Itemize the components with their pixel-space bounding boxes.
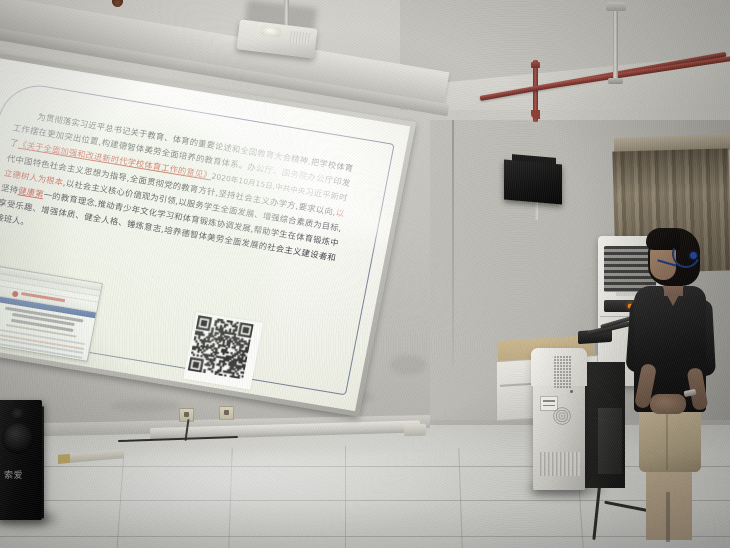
console-dial-icon[interactable] [552, 406, 572, 426]
floor-reflection [60, 455, 480, 545]
radiator-end-cap [404, 424, 426, 437]
floor-speaker-brand: 索爱 [4, 468, 34, 480]
console-speaker-mesh [554, 356, 572, 388]
wall-corner-edge [452, 120, 454, 365]
ceiling-drop-rod-foot [608, 78, 623, 84]
speaker-woofer-icon [2, 422, 34, 454]
floor-standing-speaker [0, 400, 42, 520]
ceiling-drop-rod [613, 4, 618, 80]
wall-mounted-speaker [504, 159, 562, 204]
headset-earpiece-icon [690, 252, 697, 259]
wall-stain [110, 400, 180, 412]
projector-mount-arm [284, 0, 289, 26]
console-indicator-dot [570, 390, 573, 393]
speaker-tweeter-icon [10, 408, 24, 418]
pipe-elbow [531, 110, 540, 119]
presenter-hands [650, 394, 686, 414]
ceiling-drop-rod-bracket [606, 2, 626, 11]
presenter-leg-gap [666, 492, 670, 542]
projector-vent [290, 31, 311, 45]
console-vent [540, 452, 580, 476]
equipment-bay [598, 408, 622, 474]
wall-stain [390, 355, 426, 375]
pipe-coupler [531, 62, 540, 68]
classroom-photo: 为贯彻落实习近平总书记关于教育、体育的重要论述和全国教育大会精神,把学校体育工作… [0, 0, 730, 548]
power-outlet[interactable] [219, 406, 234, 420]
projector-lens-icon [260, 26, 281, 37]
